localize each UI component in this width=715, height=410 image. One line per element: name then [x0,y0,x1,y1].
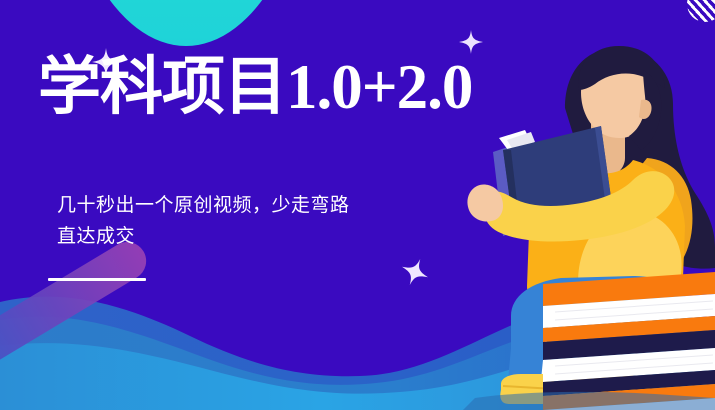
book-stack [543,272,715,410]
promo-poster: 学科项目1.0+2.0 几十秒出一个原创视频，少走弯路 直达成交 [0,0,715,410]
divider-line [48,278,146,281]
subtitle-line-1: 几十秒出一个原创视频，少走弯路 [57,190,477,221]
subtitle-line-2: 直达成交 [57,221,477,252]
subtitle: 几十秒出一个原创视频，少走弯路 直达成交 [57,190,477,253]
page-title: 学科项目1.0+2.0 [38,56,472,119]
text-content: 学科项目1.0+2.0 几十秒出一个原创视频，少走弯路 直达成交 [0,0,500,410]
